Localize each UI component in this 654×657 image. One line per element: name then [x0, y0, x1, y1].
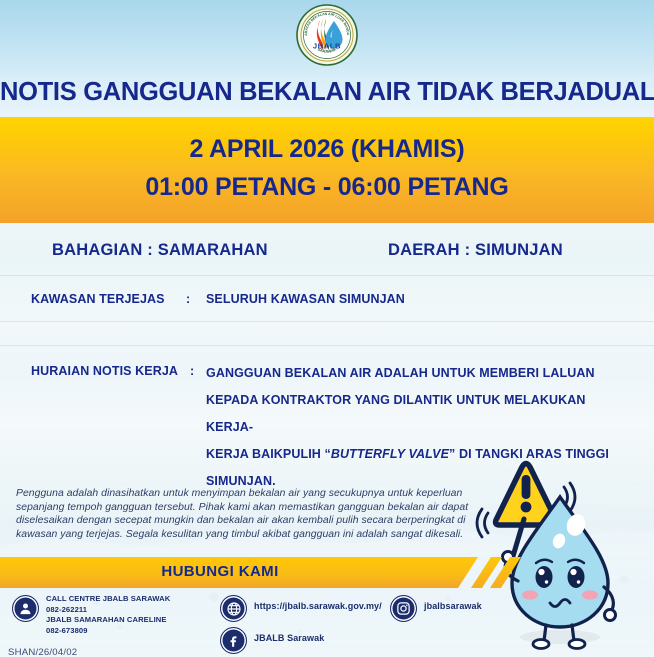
poster-header: JBALB JABATAN BEKALAN AIR LUAR BANDAR SA… [0, 0, 654, 117]
divider-3 [0, 345, 654, 346]
work-description-line-3-b: ” DI TANGKI ARAS TINGGI [449, 447, 609, 461]
reference-code: SHAN/26/04/02 [8, 647, 77, 657]
page-title: NOTIS GANGGUAN BEKALAN AIR TIDAK BERJADU… [0, 78, 654, 107]
contact-banner-title: HUBUNGI KAMI [0, 563, 440, 580]
affected-area-colon: : [186, 292, 190, 306]
work-description-body: GANGGUAN BEKALAN AIR ADALAH UNTUK MEMBER… [206, 360, 626, 495]
bahagian-label: BAHAGIAN : SAMARAHAN [52, 241, 268, 260]
jbalb-sarawak-logo: JBALB JABATAN BEKALAN AIR LUAR BANDAR SA… [296, 4, 358, 66]
instagram-label[interactable]: jbalbsarawak [424, 601, 482, 612]
call-centre-name: CALL CENTRE JBALB SARAWAK [46, 594, 206, 605]
globe-icon[interactable] [220, 595, 247, 622]
outage-date: 2 APRIL 2026 (KHAMIS) [0, 135, 654, 164]
call-centre-block: CALL CENTRE JBALB SARAWAK 082-262211 JBA… [46, 594, 206, 636]
work-description-line-3: KERJA BAIKPULIH “BUTTERFLY VALVE” DI TAN… [206, 441, 626, 468]
daerah-label: DAERAH : SIMUNJAN [388, 241, 563, 260]
work-description-label: HURAIAN NOTIS KERJA [31, 364, 178, 378]
careline-number: 082-673809 [46, 626, 206, 637]
divider-1 [0, 275, 654, 276]
work-description-line-2: KEPADA KONTRAKTOR YANG DILANTIK UNTUK ME… [206, 387, 626, 441]
outage-time: 01:00 PETANG - 06:00 PETANG [0, 173, 654, 202]
careline-name: JBALB SAMARAHAN CARELINE [46, 615, 206, 626]
contact-list: CALL CENTRE JBALB SARAWAK 082-262211 JBA… [0, 592, 654, 657]
person-icon[interactable] [12, 595, 39, 622]
affected-area-value: SELURUH KAWASAN SIMUNJAN [206, 292, 405, 306]
website-label[interactable]: https://jbalb.sarawak.gov.my/ [254, 601, 382, 612]
work-description-line-3-a: KERJA BAIKPULIH “ [206, 447, 331, 461]
facebook-label[interactable]: JBALB Sarawak [254, 633, 324, 644]
region-row: BAHAGIAN : SAMARAHAN DAERAH : SIMUNJAN [0, 235, 654, 275]
poster-body: BAHAGIAN : SAMARAHAN DAERAH : SIMUNJAN K… [0, 223, 654, 657]
date-time-band: 2 APRIL 2026 (KHAMIS) 01:00 PETANG - 06:… [0, 117, 654, 223]
facebook-icon[interactable] [220, 627, 247, 654]
advisory-note: Pengguna adalah dinasihatkan untuk menyi… [16, 487, 471, 541]
call-centre-number: 082-262211 [46, 605, 206, 616]
instagram-icon[interactable] [390, 595, 417, 622]
affected-area-label: KAWASAN TERJEJAS [31, 292, 165, 306]
work-description-line-1: GANGGUAN BEKALAN AIR ADALAH UNTUK MEMBER… [206, 360, 626, 387]
work-description-term: BUTTERFLY VALVE [331, 447, 449, 461]
contact-banner: HUBUNGI KAMI [0, 557, 654, 590]
divider-2 [0, 321, 654, 322]
work-description-colon: : [190, 364, 194, 378]
notice-poster: JBALB JABATAN BEKALAN AIR LUAR BANDAR SA… [0, 0, 654, 657]
